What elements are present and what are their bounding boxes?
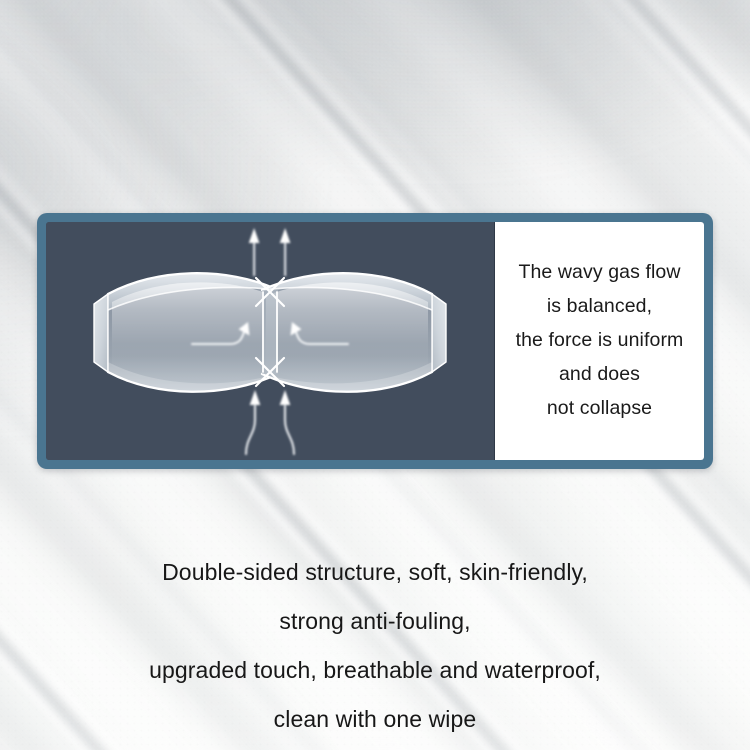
caption-line: strong anti-fouling, bbox=[0, 597, 750, 646]
top-flow-arrows bbox=[249, 228, 291, 276]
product-caption: Double-sided structure, soft, skin-frien… bbox=[0, 548, 750, 744]
feature-text-line: the force is uniform bbox=[516, 323, 684, 357]
caption-line: upgraded touch, breathable and waterproo… bbox=[0, 646, 750, 695]
left-air-cell bbox=[94, 273, 278, 392]
feature-panel: The wavy gas flow is balanced, the force… bbox=[37, 213, 713, 469]
gas-flow-diagram bbox=[46, 222, 494, 460]
feature-text-line: not collapse bbox=[547, 391, 652, 425]
gas-flow-diagram-svg bbox=[46, 222, 494, 460]
wavy-up-arrow bbox=[280, 390, 294, 454]
caption-line: clean with one wipe bbox=[0, 695, 750, 744]
right-air-cell bbox=[262, 273, 446, 392]
feature-text-card: The wavy gas flow is balanced, the force… bbox=[494, 222, 704, 460]
up-arrow bbox=[280, 228, 291, 276]
bottom-wavy-flow-arrows bbox=[246, 390, 294, 454]
feature-panel-inner: The wavy gas flow is balanced, the force… bbox=[46, 222, 704, 460]
feature-text-line: is balanced, bbox=[547, 289, 652, 323]
feature-text-line: The wavy gas flow bbox=[518, 255, 680, 289]
wavy-up-arrow bbox=[246, 390, 260, 454]
caption-line: Double-sided structure, soft, skin-frien… bbox=[0, 548, 750, 597]
up-arrow bbox=[249, 228, 260, 276]
feature-text-line: and does bbox=[559, 357, 640, 391]
product-feature-image: The wavy gas flow is balanced, the force… bbox=[0, 0, 750, 750]
